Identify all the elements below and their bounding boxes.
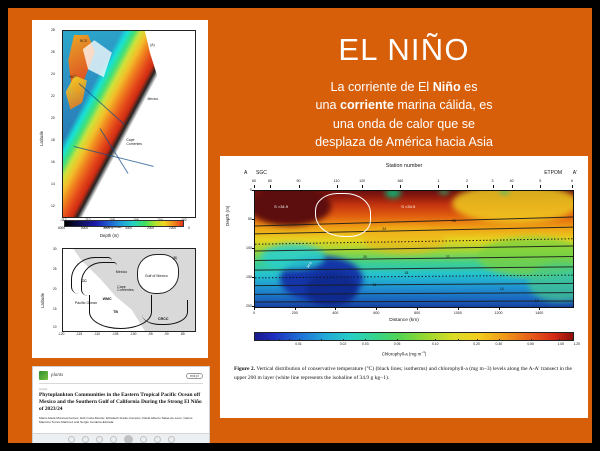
hero-line1-pre: La corriente de El [330,80,432,94]
chl-tick-0.05: 0.05 [394,342,401,346]
label-bcs: BCS [80,40,87,44]
chl-tick-0.03: 0.03 [362,342,369,346]
isotherm-label-26: 26 [452,219,456,223]
station-tick-6: 1 [437,179,439,183]
lon-b-tick-100: -100 [130,332,136,336]
transect-end-label: A' [573,170,577,176]
panel-b-label: (B) [173,256,178,260]
page-title: EL NIÑO [220,22,588,65]
footer-icon-1 [68,436,75,443]
lon-b-tick-110: -110 [94,332,100,336]
chl-tick-0.02: 0.02 [340,342,347,346]
hero-line2-pre: una [315,98,340,112]
chl-tick-1.00: 1.00 [558,342,565,346]
salinity-annotation-high: S >34.9 [274,204,288,209]
station-tick-3: 110 [334,179,340,183]
footer-icons [33,434,209,443]
station-tick-4: 120 [359,179,365,183]
label-current-tb: TB [113,310,118,314]
footer-icon-6 [154,436,161,443]
journal-name: plants [51,373,63,378]
station-tick-7: 2 [466,179,468,183]
isotherm-12 [255,301,573,303]
footer-icon-4 [110,436,117,443]
leaf-icon [39,371,48,380]
chl-tick-0.10: 0.10 [432,342,439,346]
chl-tick-0.01: 0.01 [295,342,302,346]
lat-tick-14: 14 [51,182,55,186]
footer-icon-2 [82,436,89,443]
lat-b-tick-15: 15 [53,307,57,311]
currents-map-axes: Mexico Gulf of Mexico Pacific Ocean Cape… [62,248,196,332]
slide-canvas: (A) BCS BCP Mexico Cape Corrientes 28 26… [8,8,592,443]
figure2-card: Station number A SGC ETPOM A' 60 80 90 1… [220,156,588,418]
mdpi-logo: mdpi [186,373,203,379]
station-tick-1: 80 [268,179,272,183]
paper-title: Phytoplankton Communities in the Eastern… [33,391,209,413]
depth-tick-1000: 1000 [169,226,176,230]
label-current-wmc: WMC [103,297,112,301]
hero-line2-post: marina cálida, es [394,98,493,112]
paper-header: plants mdpi [33,367,209,382]
chl-tick-0.50: 0.50 [527,342,534,346]
isotherm-label-22: 22 [446,255,450,259]
figure-caption-text: Vertical distribution of conservative te… [234,366,572,381]
figure-number: Figure 2. [234,366,255,372]
distance-axis: 0 200 400 600 800 1000 1200 1400 [254,307,572,317]
header-divider [39,383,203,384]
figure2-plot-area: Station number A SGC ETPOM A' 60 80 90 1… [226,160,582,360]
isotherm-label-20: 20 [363,255,367,259]
station-tick-5: 160 [397,179,403,183]
hero-line2-bold: corriente [340,98,394,112]
station-tick-8: 3 [492,179,494,183]
lon-b-tick-115: -115 [76,332,82,336]
lon-b-tick-90: -90 [164,332,169,336]
depth-axis: 0 50 100 150 200 [238,190,254,306]
isotherm-label-18: 18 [404,271,408,275]
panel-b-ylabel: Latitude [40,293,45,308]
bathymetry-map-axes: (A) BCS BCP Mexico Cape Corrientes [62,30,196,218]
transect-start-label: A [244,170,247,176]
lat-b-tick-30: 30 [53,247,57,251]
isohaline-outline [315,193,371,237]
distance-tick-400: 400 [332,311,338,315]
hero-line1-bold: Niño [433,80,461,94]
bathymetry-raster [63,31,195,217]
left-figure-card: (A) BCS BCP Mexico Cape Corrientes 28 26… [32,20,208,358]
paper-preview-card[interactable]: plants mdpi Article Phytoplankton Commun… [32,366,210,443]
depth-colorbar-ticks: 6000 5000 4000 3000 2000 1000 0 [58,226,190,232]
hero-body: La corriente de El Niño es una corriente… [220,65,588,151]
station-tick-2: 90 [297,179,301,183]
region-right-label: ETPOM [544,170,562,176]
salinity-annotation-low: S <34.9 [401,204,415,209]
figure-caption: Figure 2. Vertical distribution of conse… [234,365,572,382]
distance-tick-0: 0 [253,311,255,315]
distance-tick-1400: 1400 [535,311,543,315]
chl-tick-1.20: 1.20 [573,342,580,346]
region-left-label: SGC [256,170,267,176]
lat-tick-16: 16 [51,160,55,164]
journal-logo: plants [39,371,63,380]
label-pacific-ocean: Pacific Ocean [75,301,97,305]
label-mexico: Mexico [147,98,158,102]
distance-tick-800: 800 [414,311,420,315]
chlorophyll-colorbar-ticks: 0.01 0.02 0.03 0.05 0.10 0.20 0.30 0.50 … [254,339,572,348]
depth-tick-2000: 2000 [147,226,154,230]
paper-footer-bar [33,433,209,443]
hero-line3: una onda de calor que se [333,117,475,131]
label-current-cc: CC [81,279,86,283]
temperature-chlorophyll-section: 34.9 S >34.9 S <34.9 24 26 20 22 18 16 1… [254,190,574,308]
label-cape-corrientes: Cape Corrientes [126,139,148,146]
depth-tick-4000: 4000 [103,226,110,230]
depth-tick-6000: 6000 [58,226,65,230]
station-tick-11: 6 [571,179,573,183]
chl-title-pre: Chlorophyll-a (mg m [382,351,422,356]
station-axis: 60 80 90 110 120 160 1 2 3 40 5 6 [254,179,572,188]
station-tick-9: 40 [510,179,514,183]
depth-tick-0: 0 [188,226,190,230]
distance-tick-200: 200 [292,311,298,315]
lat-tick-18: 18 [51,138,55,142]
lat-b-tick-10: 10 [53,325,57,329]
isotherm-label-14: 14 [500,287,504,291]
lat-tick-26: 26 [51,50,55,54]
depth-colorbar-title: Depth (m) [100,233,119,238]
isotherm-label-16: 16 [373,283,377,287]
section-title: Station number [226,163,582,169]
chlorophyll-colorbar-title: Chlorophyll-a (mg m−3) [226,350,582,356]
station-tick-10: 5 [539,179,541,183]
distance-tick-1000: 1000 [454,311,462,315]
distance-tick-1200: 1200 [495,311,503,315]
lat-b-tick-25: 25 [53,267,57,271]
station-tick-0: 60 [252,179,256,183]
chl-tick-0.20: 0.20 [473,342,480,346]
isotherm-label-24: 24 [382,227,386,231]
depth-tick-5000: 5000 [81,226,88,230]
lon-b-tick-85: -85 [180,332,185,336]
label-current-crcc: CRCC [158,317,168,321]
panel-a: (A) BCS BCP Mexico Cape Corrientes 28 26… [38,26,202,244]
lat-tick-12: 12 [51,204,55,208]
distance-axis-label: Distance (km) [226,318,582,323]
lon-b-tick-120: -120 [58,332,64,336]
footer-icon-5 [140,436,147,443]
distance-tick-600: 600 [373,311,379,315]
depth-axis-label: Depth (m) [225,206,230,226]
lon-b-tick-105: -105 [112,332,118,336]
label-cape-corrientes-b: Cape Corrientes [117,286,131,293]
hero-line1-post: es [461,80,478,94]
lat-tick-28: 28 [51,28,55,32]
lat-tick-24: 24 [51,72,55,76]
panel-a-label: (A) [150,44,155,48]
panel-a-ylabel: Latitude [39,131,44,146]
paper-authors: María Adela Monreal-Gómez, Erik Coria-Mo… [33,413,209,425]
label-bcp: BCP [70,76,77,80]
panel-b: Mexico Gulf of Mexico Pacific Ocean Cape… [38,246,202,352]
depth-tick-3000: 3000 [125,226,132,230]
lat-tick-22: 22 [51,94,55,98]
chl-title-post: ) [425,351,426,356]
hero-text-block: EL NIÑO La corriente de El Niño es una c… [220,22,588,152]
hero-line4: desplaza de América hacia Asia [315,135,493,149]
lon-b-tick-95: -95 [148,332,153,336]
label-mexico-b: Mexico [116,270,127,274]
lat-b-tick-20: 20 [53,287,57,291]
label-gulf-of-mexico: Gulf of Mexico [145,274,168,278]
isotherm-label-12: 12 [535,299,539,303]
footer-icon-3 [96,436,103,443]
footer-icon-7 [168,436,175,443]
footer-icon-center [124,435,133,443]
chl-tick-0.30: 0.30 [496,342,503,346]
lat-tick-20: 20 [51,116,55,120]
